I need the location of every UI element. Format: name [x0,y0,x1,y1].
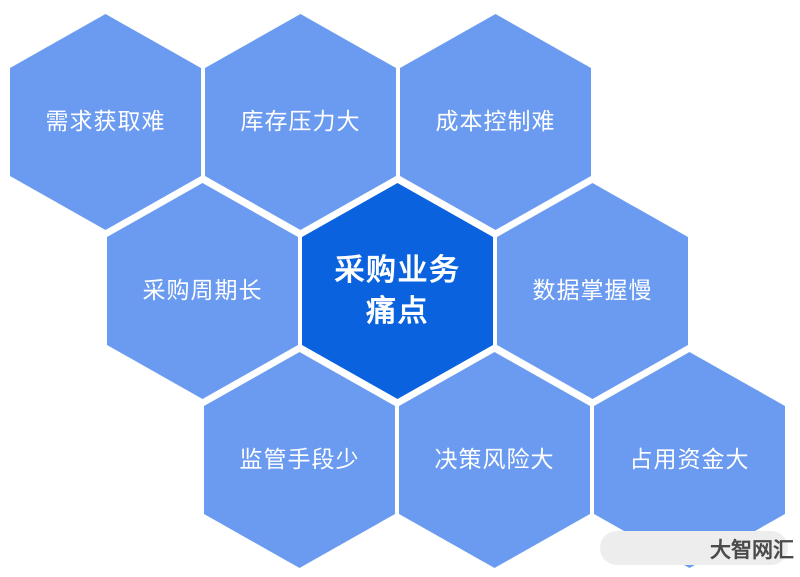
hex-cell-cost-control[interactable]: 成本控制难 [400,14,591,230]
watermark: 大智网汇 [600,529,800,569]
hex-cell-label: 采购周期长 [129,276,277,306]
hex-cell-label: 成本控制难 [422,107,570,137]
hex-cell-label: 监管手段少 [226,445,374,475]
watermark-text: 大智网汇 [710,534,800,564]
hex-cell-label: 需求获取难 [32,107,180,137]
hex-cell-decision-risk[interactable]: 决策风险大 [399,352,590,568]
hex-cell-label: 占用资金大 [616,445,764,475]
center-topic-label: 采购业务痛点 [309,250,487,333]
hex-cell-demand-acquisition[interactable]: 需求获取难 [10,14,201,230]
hex-cell-inventory-pressure[interactable]: 库存压力大 [205,14,396,230]
hex-cell-label: 库存压力大 [227,107,375,137]
hex-cell-supervision-means[interactable]: 监管手段少 [204,352,395,568]
hexagon-diagram-canvas: 需求获取难 库存压力大 成本控制难 采购周期长 采购业务痛点 数据掌握慢 监管手… [0,0,800,577]
hex-cell-label: 决策风险大 [421,445,569,475]
hex-cell-data-visibility[interactable]: 数据掌握慢 [497,183,688,399]
hex-cell-center-topic[interactable]: 采购业务痛点 [302,183,493,399]
hex-cell-procurement-cycle[interactable]: 采购周期长 [107,183,298,399]
hex-cell-label: 数据掌握慢 [519,276,667,306]
